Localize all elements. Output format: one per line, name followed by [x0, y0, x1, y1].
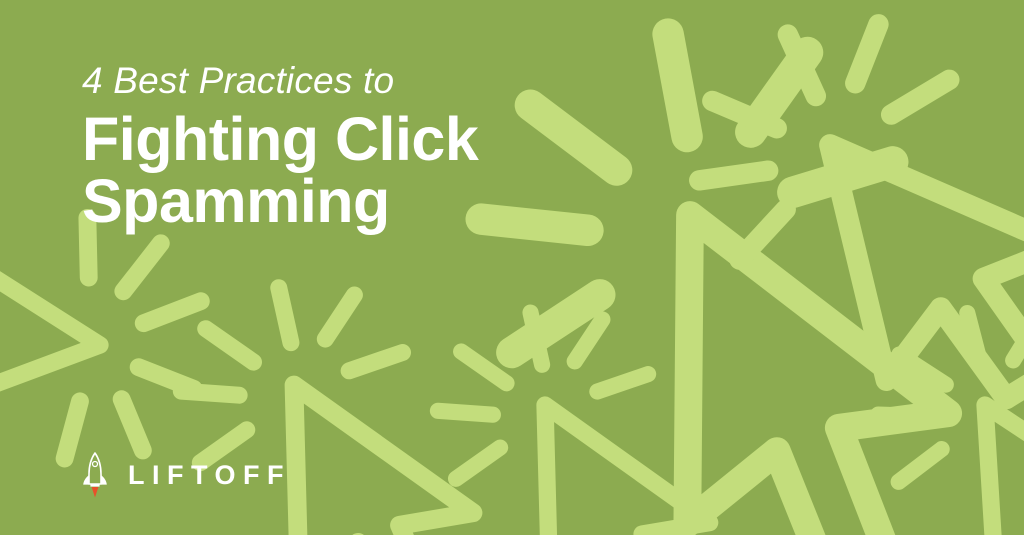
headline-line-2: Spamming: [82, 167, 642, 235]
eyebrow-text: 4 Best Practices to: [82, 62, 642, 101]
promo-banner: 4 Best Practices to Fighting Click Spamm…: [0, 0, 1024, 535]
rocket-icon: [80, 450, 110, 500]
headline-block: 4 Best Practices to Fighting Click Spamm…: [82, 62, 642, 235]
headline-line-1: Fighting Click: [82, 105, 642, 173]
liftoff-logo[interactable]: LIFTOFF: [80, 450, 291, 500]
liftoff-wordmark: LIFTOFF: [128, 462, 291, 489]
banner-content: 4 Best Practices to Fighting Click Spamm…: [0, 0, 1024, 535]
